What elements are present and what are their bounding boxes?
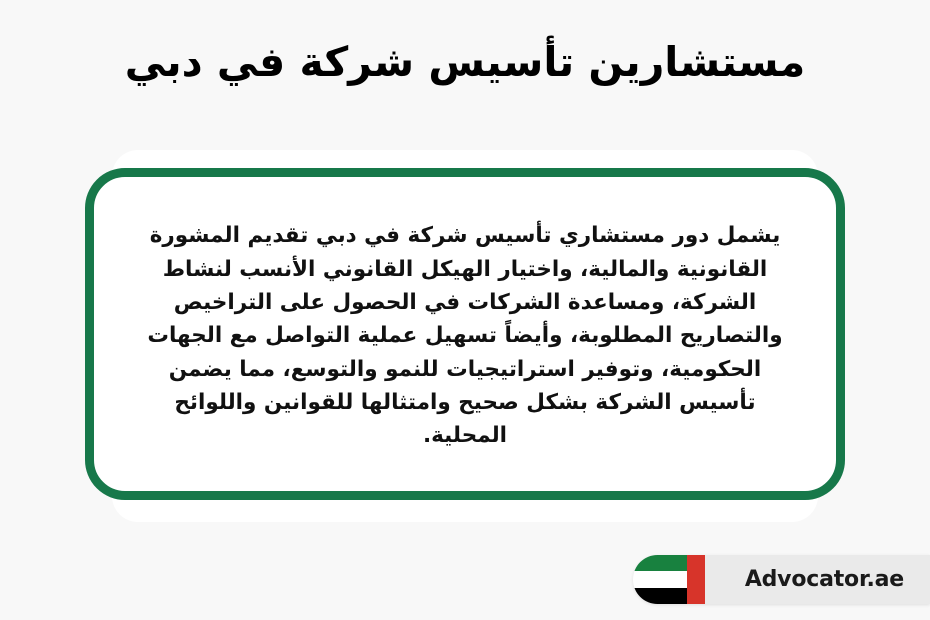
content-card-stack: يشمل دور مستشاري تأسيس شركة في دبي تقديم…	[85, 150, 845, 522]
flag-stripe-white	[633, 571, 687, 587]
brand-bar[interactable]: Advocator.ae	[633, 555, 930, 604]
flag-stripe-green	[633, 555, 687, 571]
brand-name-label: Advocator.ae	[705, 555, 930, 604]
flag-stripes	[633, 555, 687, 604]
page-title: مستشارين تأسيس شركة في دبي	[55, 38, 875, 86]
page-title-container: مستشارين تأسيس شركة في دبي	[0, 38, 930, 86]
flag-hoist-red-band	[687, 555, 705, 604]
card-paragraph: يشمل دور مستشاري تأسيس شركة في دبي تقديم…	[131, 219, 799, 452]
uae-flag-icon	[633, 555, 705, 604]
card-body: يشمل دور مستشاري تأسيس شركة في دبي تقديم…	[85, 150, 845, 522]
poster-canvas: مستشارين تأسيس شركة في دبي يشمل دور مستش…	[0, 0, 930, 620]
flag-stripe-black	[633, 588, 687, 604]
